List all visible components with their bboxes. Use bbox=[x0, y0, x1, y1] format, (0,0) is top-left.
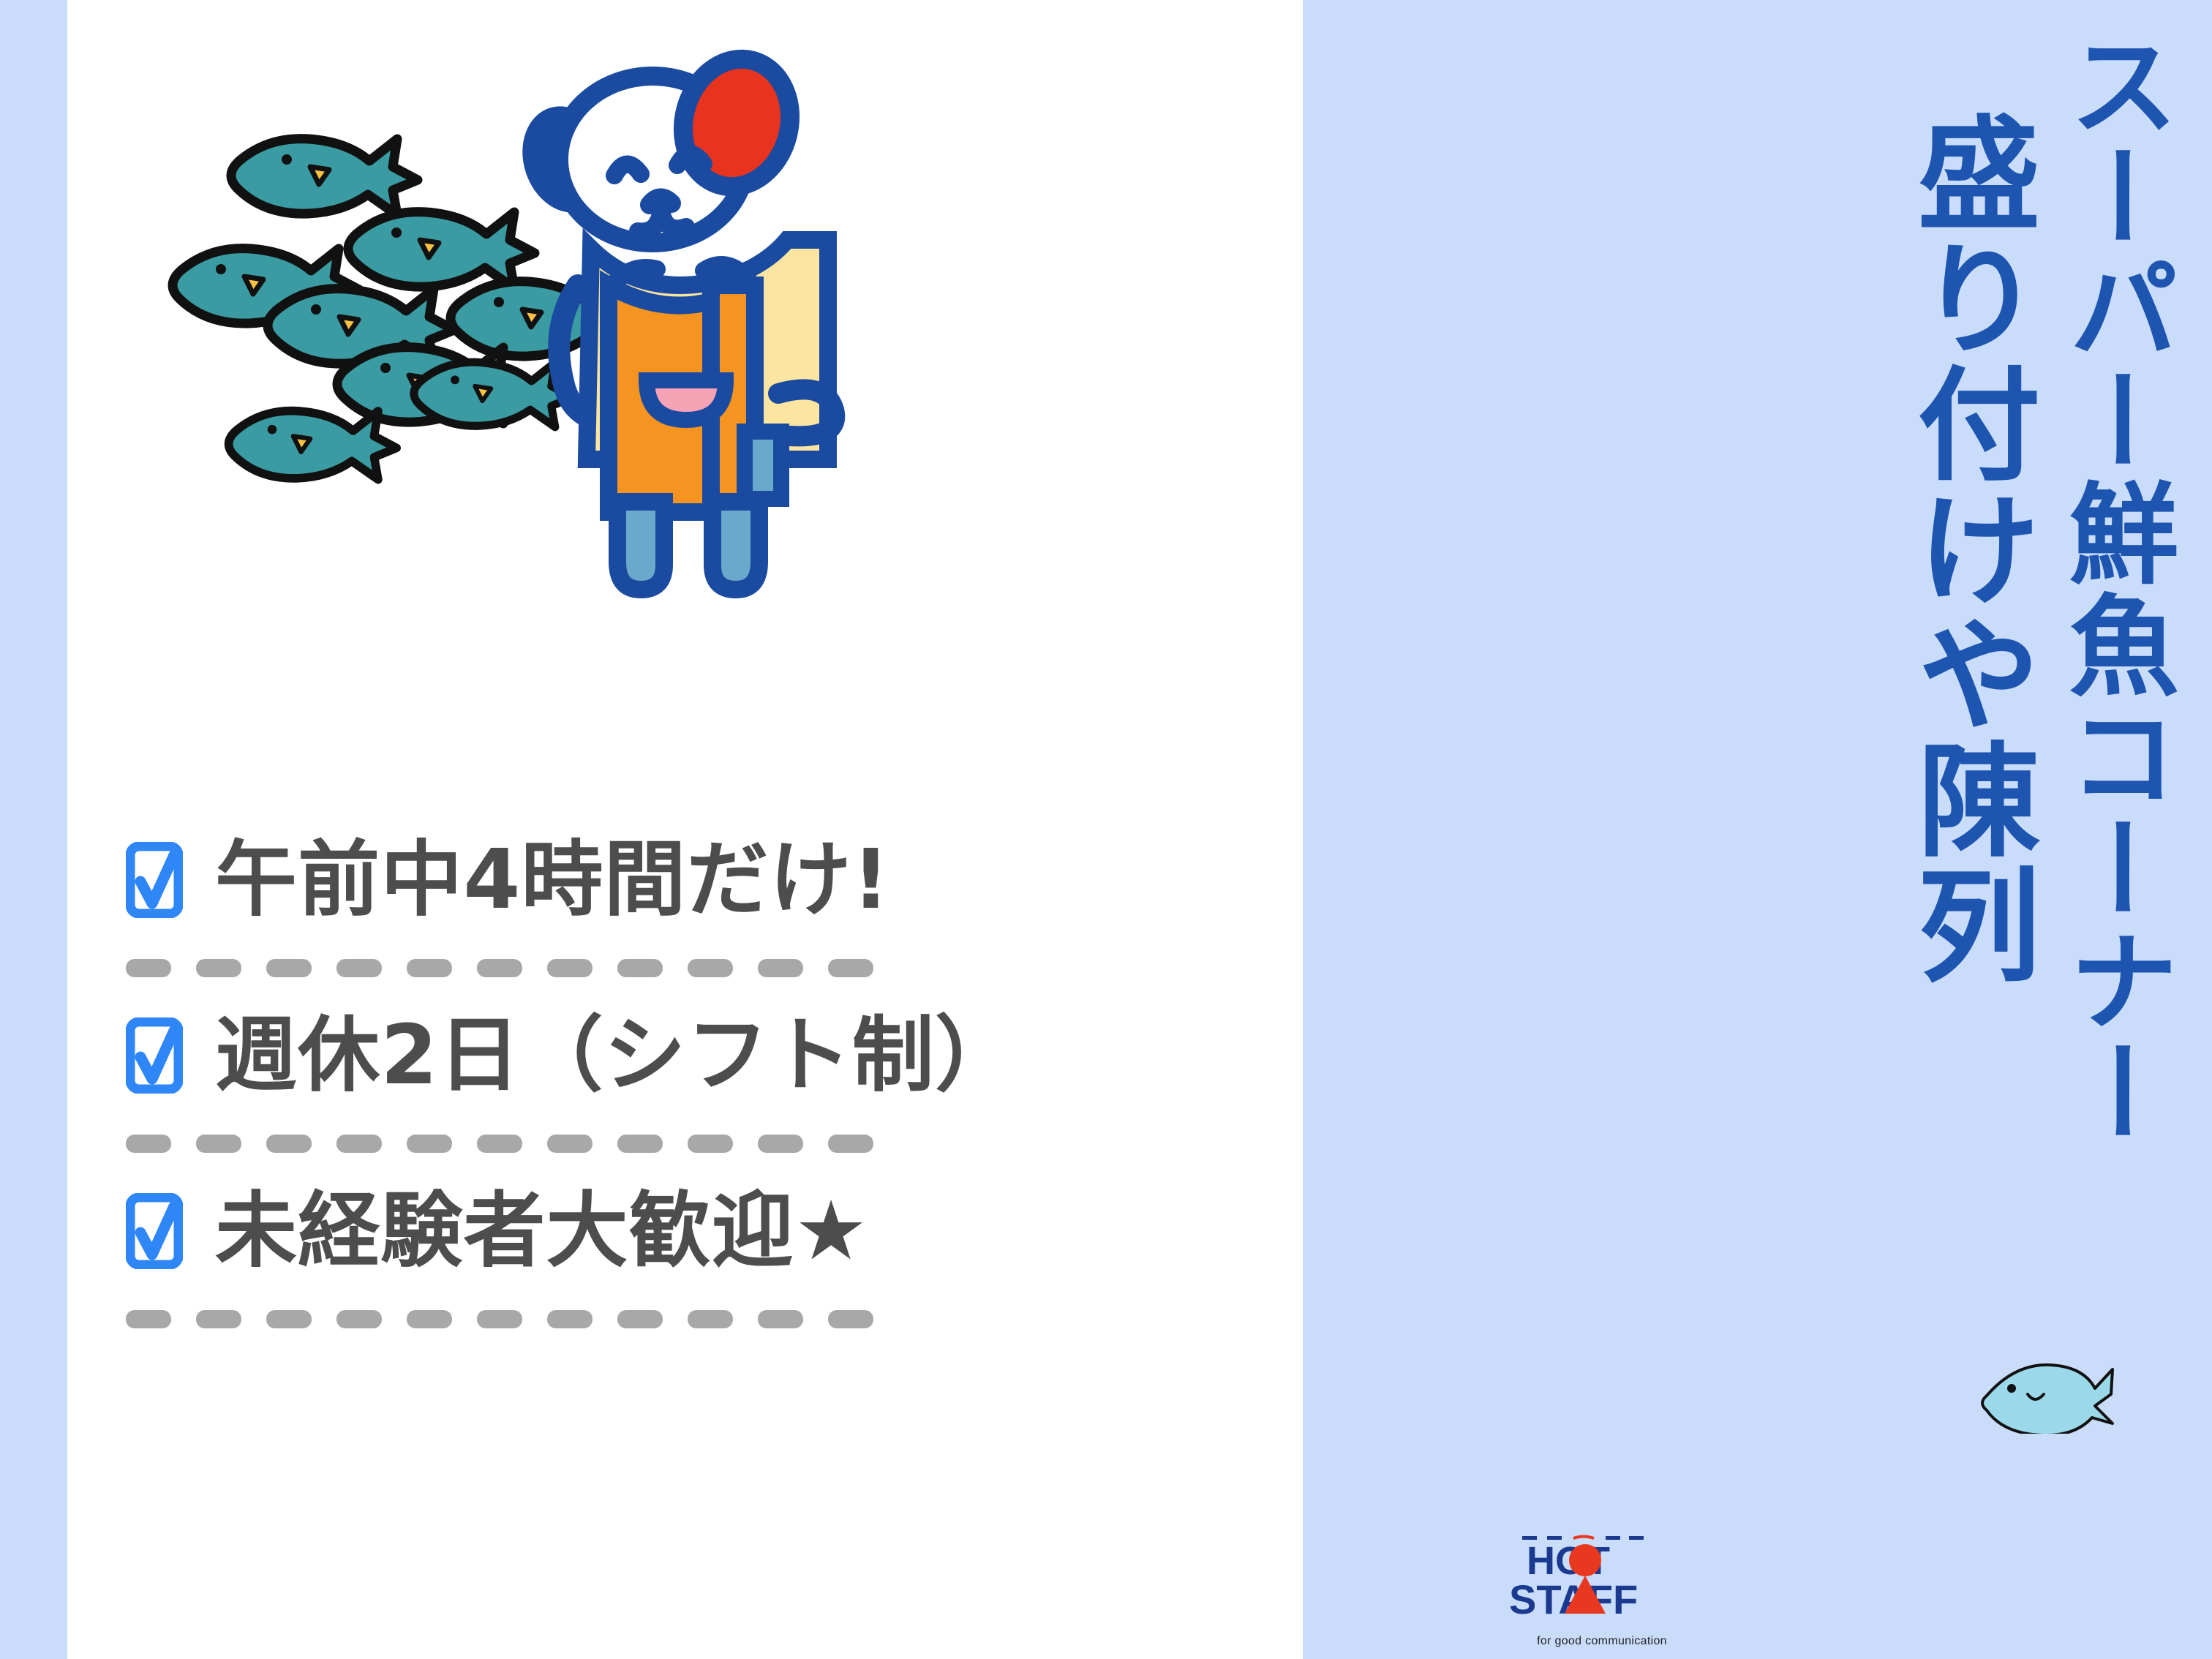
headline-column-right: スーパー鮮魚コーナー bbox=[2058, 29, 2170, 1287]
logo-tagline: for good communication bbox=[1503, 1635, 1701, 1648]
checkbox-checked-icon[interactable] bbox=[126, 1017, 183, 1094]
checklist-item-label: 週休2日（シフト制） bbox=[215, 1015, 1017, 1096]
fish-8 bbox=[229, 411, 396, 480]
checklist-item[interactable]: 午前中4時間だけ! bbox=[117, 812, 1302, 947]
dashed-divider bbox=[126, 1135, 1302, 1153]
left-blue-strip bbox=[0, 0, 67, 1659]
fish-7 bbox=[414, 362, 573, 427]
checkbox-checked-icon[interactable] bbox=[126, 1193, 183, 1269]
checklist: 午前中4時間だけ! 週休2日（シフト制） bbox=[117, 812, 1302, 1339]
checklist-item-label: 午前中4時間だけ! bbox=[215, 839, 890, 921]
mascot-beret bbox=[670, 48, 803, 198]
illustration-svg bbox=[67, 44, 1303, 746]
checklist-item[interactable]: 未経験者大歓迎★ bbox=[117, 1163, 1302, 1298]
logo-red-circle bbox=[1569, 1544, 1601, 1576]
fish-2 bbox=[348, 212, 535, 288]
small-blue-fish-icon bbox=[1979, 1353, 2118, 1434]
headline-column-left: 盛り付けや陳列 bbox=[1906, 110, 2031, 1500]
checklist-item[interactable]: 週休2日（シフト制） bbox=[117, 987, 1302, 1123]
mascot-apron-pocket bbox=[647, 380, 726, 420]
checkbox-checked-icon[interactable] bbox=[126, 842, 183, 918]
mascot-fishmonger bbox=[509, 48, 835, 590]
logo-mark: HOT STAFF bbox=[1503, 1535, 1701, 1625]
poster-canvas: スーパー鮮魚コーナー 盛り付けや陳列 午前中4時間だけ! bbox=[0, 0, 2212, 1659]
checklist-item-label: 未経験者大歓迎★ bbox=[215, 1190, 868, 1272]
hot-staff-logo: HOT STAFF for good communication bbox=[1503, 1535, 1701, 1644]
dashed-divider bbox=[126, 1310, 1302, 1328]
mascot-leg-right bbox=[712, 502, 759, 590]
fish-1 bbox=[231, 139, 418, 215]
hero-illustration bbox=[67, 44, 1303, 746]
mascot-leg-left bbox=[617, 502, 664, 590]
dashed-divider bbox=[126, 959, 1302, 977]
